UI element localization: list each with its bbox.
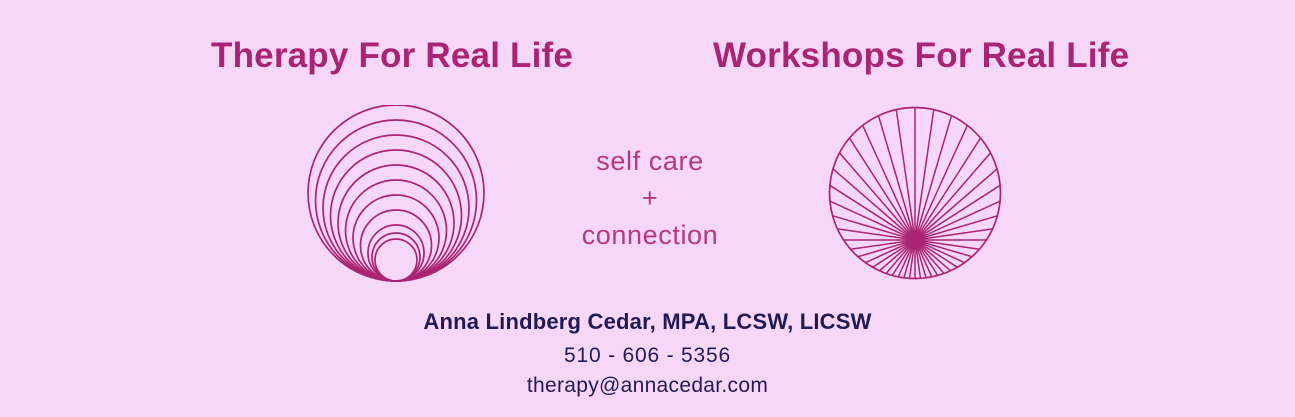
concentric-rings-logo	[300, 105, 492, 285]
practitioner-name: Anna Lindberg Cedar, MPA, LCSW, LICSW	[0, 308, 1295, 336]
site-banner: Therapy For Real Life Workshops For Real…	[0, 0, 1295, 417]
phone-number[interactable]: 510 - 606 - 5356	[0, 341, 1295, 371]
tagline-block: self care + connection	[500, 143, 800, 254]
tagline-line-connection: connection	[500, 217, 800, 254]
email-address[interactable]: therapy@annacedar.com	[0, 371, 1295, 401]
heading-therapy-for-real-life: Therapy For Real Life	[211, 36, 573, 76]
heading-workshops-for-real-life: Workshops For Real Life	[713, 36, 1129, 76]
contact-block: Anna Lindberg Cedar, MPA, LCSW, LICSW 51…	[0, 308, 1295, 401]
tagline-line-self-care: self care	[500, 143, 800, 180]
sunburst-logo	[828, 106, 1008, 286]
tagline-line-plus: +	[500, 180, 800, 217]
